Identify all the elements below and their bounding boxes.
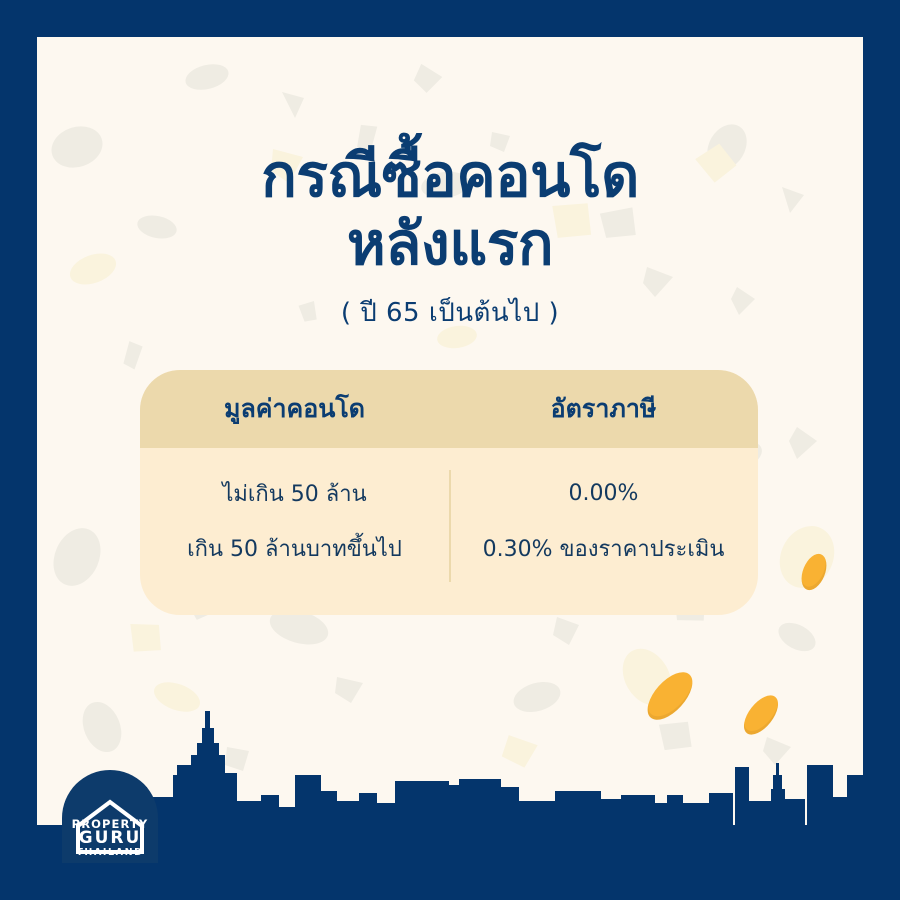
table-header-row: มูลค่าคอนโด อัตราภาษี [140,370,758,448]
gold-coin-icon [797,550,832,593]
page-title-line-1: กรณีซื้อคอนโด [37,142,863,210]
logo-text-thailand: THAILAND [76,847,143,858]
page-subtitle: ( ปี 65 เป็นต้นไป ) [37,292,863,333]
column-divider [449,470,451,582]
table-body: ไม่เกิน 50 ล้าน 0.00% เกิน 50 ล้านบาทขึ้… [140,448,758,615]
table-cell-rate: 0.00% [449,466,758,521]
tax-rate-table: มูลค่าคอนโด อัตราภาษี ไม่เกิน 50 ล้าน 0.… [140,370,758,615]
table-cell-value: เกิน 50 ล้านบาทขึ้นไป [140,521,449,576]
city-skyline-icon [37,703,863,863]
page-title-line-2: หลังแรก [37,210,863,278]
poster-frame: กรณีซื้อคอนโด หลังแรก ( ปี 65 เป็นต้นไป … [0,0,900,900]
logo-text-guru: GURU [79,828,142,848]
page-title: กรณีซื้อคอนโด หลังแรก [37,142,863,279]
table-cell-value: ไม่เกิน 50 ล้าน [140,466,449,521]
table-cell-rate: 0.30% ของราคาประเมิน [449,521,758,576]
table-header-cell-rate: อัตราภาษี [449,370,758,448]
propertyguru-logo[interactable]: PROPERTY GURU THAILAND [60,768,160,863]
table-header-cell-value: มูลค่าคอนโด [140,370,449,448]
poster-canvas: กรณีซื้อคอนโด หลังแรก ( ปี 65 เป็นต้นไป … [37,37,863,863]
